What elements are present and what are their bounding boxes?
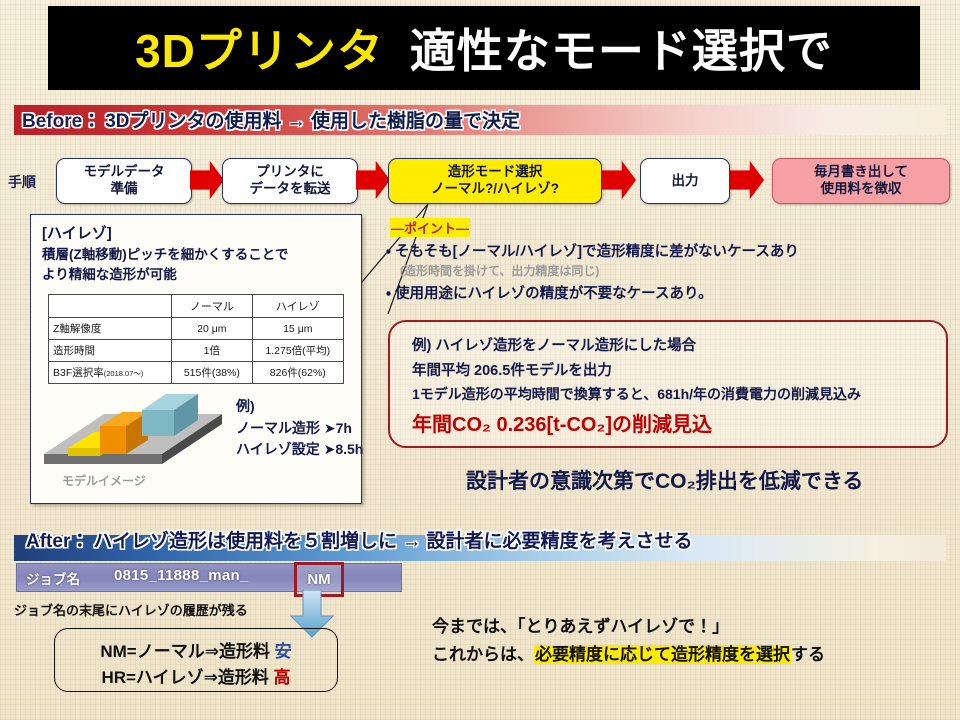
right-arrow-icon	[356, 160, 390, 200]
row-label-period: (2018.07～)	[104, 369, 144, 378]
flow-step-line1: 毎月書き出して	[814, 164, 908, 181]
cell-buildtime-hires: 1.275倍(平均)	[252, 340, 343, 362]
job-name-label: ジョブ名	[26, 568, 80, 588]
co2-line-2: 年間平均 206.5件モデルを出力	[412, 359, 612, 380]
flow-step-line2: 使用料を徴収	[821, 181, 902, 198]
title-rest: 適性なモード選択で	[410, 15, 833, 81]
table-header-row: ノーマル ハイレゾ	[49, 295, 344, 318]
message-past: 今までは、「とりあえずハイレゾで！」	[432, 612, 729, 637]
co2-savings-box: 例) ハイレゾ造形をノーマル造形にした場合 年間平均 206.5件モデルを出力 …	[388, 320, 948, 448]
before-description: 3Dプリンタの使用料 → 使用した樹脂の量で決定	[105, 106, 520, 133]
cell-buildtime-normal: 1倍	[172, 340, 253, 362]
row-label-selection-rate: B3F選択率(2018.07～)	[49, 362, 172, 384]
slide-canvas: 3Dプリンタ 適性なモード選択で Before： 3Dプリンタの使用料 → 使用…	[0, 0, 960, 720]
flow-step-line1: 出力	[672, 173, 699, 190]
before-section-heading: Before： 3Dプリンタの使用料 → 使用した樹脂の量で決定	[22, 104, 520, 134]
title-highlight: 3Dプリンタ	[135, 15, 384, 81]
cell-resolution-hires: 15 μm	[252, 318, 343, 340]
model-image-illustration	[38, 390, 228, 482]
flow-step-line1: プリンタに	[256, 164, 324, 181]
co2-line-1: 例) ハイレゾ造形をノーマル造形にした場合	[412, 334, 696, 355]
legend-normal: NM=ノーマル⇒造形料 安	[55, 637, 337, 662]
legend-normal-value: 安	[275, 642, 292, 661]
col-header-hires: ハイレゾ	[252, 295, 343, 318]
legend-hires: HR=ハイレゾ⇒造形料 高	[55, 663, 337, 688]
right-arrow-icon	[730, 160, 764, 200]
point-item-1: ・ そもそも[ノーマル/ハイレゾ]で造形精度に差がないケースあり	[386, 240, 799, 261]
before-label: Before：	[22, 106, 101, 133]
after-section-heading: After： ハイレゾ造形は使用料を５割増しに → 設計者に必要精度を考えさせる	[26, 524, 693, 554]
spec-comparison-table: ノーマル ハイレゾ Z軸解像度 20 μm 15 μm 造形時間 1倍 1.27…	[48, 294, 344, 384]
flow-step-line2: 準備	[111, 181, 138, 198]
flow-label: 手順	[8, 172, 36, 192]
example-head: 例)	[236, 396, 363, 418]
hires-heading: [ハイレゾ]	[42, 222, 112, 243]
flow-step-billing[interactable]: 毎月書き出して 使用料を徴収	[772, 158, 950, 204]
flow-step-model-data[interactable]: モデルデータ 準備	[56, 158, 192, 204]
flow-step-output[interactable]: 出力	[640, 158, 730, 204]
after-label: After：	[26, 526, 89, 553]
col-header-normal: ノーマル	[172, 295, 253, 318]
table-row: 造形時間 1倍 1.275倍(平均)	[49, 340, 344, 362]
example-normal: ノーマル造形 ➤7h	[236, 418, 363, 440]
right-arrow-icon	[190, 160, 224, 200]
row-label-resolution: Z軸解像度	[49, 318, 172, 340]
hires-description-line1: 積層(Z軸移動)ピッチを細かくすることで	[42, 245, 342, 265]
legend-hires-text: HR=ハイレゾ⇒造形料	[101, 668, 273, 687]
point-item-2: ・ 使用用途にハイレゾの精度が不要なケースあり。	[386, 282, 713, 303]
conclusion-statement: 設計者の意識次第でCO₂排出を低減できる	[466, 465, 863, 495]
after-description: ハイレゾ造形は使用料を５割増しに → 設計者に必要精度を考えさせる	[93, 526, 692, 553]
table-row: Z軸解像度 20 μm 15 μm	[49, 318, 344, 340]
flow-step-line1: モデルデータ	[84, 164, 165, 181]
col-header-blank	[49, 295, 172, 318]
legend-hires-value: 高	[274, 668, 291, 687]
hires-description-line2: より精細な造形が可能	[42, 265, 342, 285]
cell-rate-normal: 515件(38%)	[172, 362, 253, 384]
cell-resolution-normal: 20 μm	[172, 318, 253, 340]
message-future-prefix: これからは、	[432, 645, 534, 664]
points-heading: ―ポイント―	[390, 218, 470, 237]
message-future-highlight: 必要精度に応じて造形精度を選択	[534, 645, 791, 664]
point-item-1-note: (造形時間を掛けて、出力精度は同じ)	[400, 262, 599, 279]
slide-title-bar: 3Dプリンタ 適性なモード選択で	[48, 6, 920, 90]
flow-step-line2: データを転送	[250, 181, 331, 198]
hires-description: 積層(Z軸移動)ピッチを細かくすることで より精細な造形が可能	[42, 245, 342, 284]
build-time-example: 例) ノーマル造形 ➤7h ハイレゾ設定 ➤8.5h	[236, 396, 363, 461]
model-image-caption: モデルイメージ	[62, 472, 146, 489]
row-label-buildtime: 造形時間	[49, 340, 172, 362]
job-name-hint: ジョブ名の末尾にハイレゾの履歴が残る	[14, 600, 248, 619]
cell-rate-hires: 826件(62%)	[252, 362, 343, 384]
message-future: これからは、必要精度に応じて造形精度を選択する	[432, 640, 825, 665]
table-row: B3F選択率(2018.07～) 515件(38%) 826件(62%)	[49, 362, 344, 384]
right-arrow-icon	[602, 160, 636, 200]
job-name-value: 0815_11888_man_	[114, 567, 249, 584]
flow-step-line1: 造形モード選択	[448, 164, 543, 181]
co2-line-3: 1モデル造形の平均時間で換算すると、681h/年の消費電力の削減見込み	[412, 384, 861, 404]
row-label-text: B3F選択率	[53, 367, 104, 379]
example-hires: ハイレゾ設定 ➤8.5h	[236, 439, 363, 461]
suffix-legend-box: NM=ノーマル⇒造形料 安 HR=ハイレゾ⇒造形料 高	[54, 628, 338, 692]
co2-annual-savings: 年間CO₂ 0.236[t-CO₂]の削減見込	[412, 408, 712, 437]
legend-normal-text: NM=ノーマル⇒造形料	[100, 642, 274, 661]
message-future-suffix: する	[791, 645, 825, 664]
